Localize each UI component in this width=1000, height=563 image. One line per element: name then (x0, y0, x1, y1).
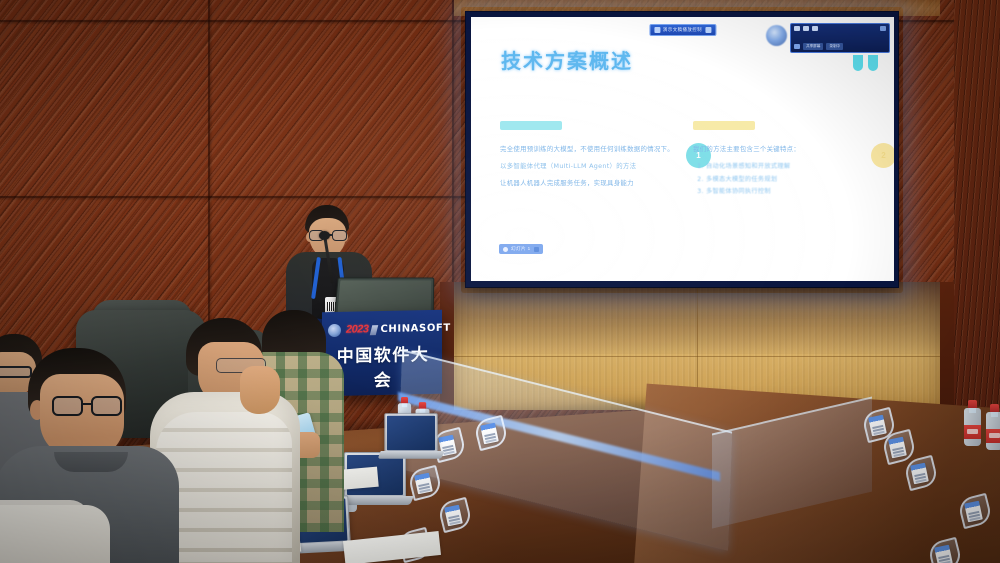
slide-badge-2: 2 (871, 143, 894, 168)
name-card-holder (960, 496, 990, 526)
close-icon[interactable] (812, 26, 818, 31)
tan-panel-frame (940, 282, 954, 410)
foreground-shoulder (0, 505, 110, 563)
meeting-chips-row[interactable]: 共享屏幕 录制中 (794, 43, 886, 50)
meeting-control-panel[interactable]: 共享屏幕 录制中 (790, 23, 890, 53)
attendee-glasses (0, 366, 32, 378)
podium-divider-icon (370, 325, 378, 335)
podium-year: 2023 (346, 323, 368, 335)
attendee-hand (240, 366, 280, 414)
laptop-screen (338, 280, 432, 312)
share-chip[interactable]: 共享屏幕 (803, 43, 823, 50)
chip-square-icon (534, 247, 539, 252)
record-chip[interactable]: 录制中 (826, 43, 843, 50)
podium-english-name: CHINASOFT (380, 323, 450, 335)
wall-seam (452, 0, 454, 300)
accent-bar (693, 121, 755, 130)
slide-paragraph: 让机器人机器人完成服务任务，实现具身能力 (500, 178, 678, 189)
water-bottle (986, 404, 1000, 450)
mic-icon[interactable] (794, 44, 800, 49)
slide-paragraph: 我们的方法主要包含三个关键特点： (693, 144, 883, 155)
presentation-toolbar[interactable]: 演示文稿播放控制 (649, 24, 716, 36)
water-bottle (964, 400, 981, 446)
sweater-collar (54, 452, 128, 472)
slide-column-2: 我们的方法主要包含三个关键特点： 自动化场景感知和开放式理解 多模态大模型的任务… (693, 121, 883, 198)
chip-dot-icon (503, 247, 508, 252)
wall-panel-right (954, 0, 1000, 410)
toolbar-label: 演示文稿播放控制 (663, 27, 702, 33)
slide-paragraph: 以多智能体代理（Multi-LLM Agent）的方法 (500, 161, 678, 172)
podium-top-line: 2023 CHINASOFT (346, 322, 451, 336)
slide-footer-chip[interactable]: 幻灯片 1 (499, 244, 543, 254)
accent-bar (500, 121, 562, 130)
name-card-holder (906, 458, 936, 488)
presentation-display: 技术方案概述 完全使用预训练的大模型，不使用任何训练数据的情况下。 以多智能体代… (466, 12, 898, 287)
name-card-holder (440, 500, 470, 530)
list-item: 多模态大模型的任务规划 (706, 174, 883, 186)
conference-logo-icon (328, 324, 341, 337)
attendee-glasses (52, 396, 122, 416)
attendee-laptop (384, 413, 437, 453)
list-item: 自动化场景感知和开放式理解 (706, 161, 883, 173)
slide-paragraph: 完全使用预训练的大模型，不使用任何训练数据的情况下。 (500, 144, 678, 155)
window-controls-row[interactable] (794, 26, 886, 31)
menu-icon[interactable] (880, 26, 886, 31)
signal-icon (654, 27, 660, 33)
name-card-holder (410, 468, 440, 498)
restore-icon[interactable] (803, 26, 809, 31)
microphone-head (319, 231, 330, 240)
chip-label: 幻灯片 1 (511, 246, 531, 252)
list-item: 多智能体协同执行控制 (706, 186, 883, 198)
slide-column-1: 完全使用预训练的大模型，不使用任何训练数据的情况下。 以多智能体代理（Multi… (500, 121, 678, 196)
slide-numbered-list: 自动化场景感知和开放式理解 多模态大模型的任务规划 多智能体协同执行控制 (706, 161, 883, 198)
slide-canvas: 技术方案概述 完全使用预训练的大模型，不使用任何训练数据的情况下。 以多智能体代… (471, 17, 894, 281)
name-card-holder (476, 418, 506, 448)
meeting-logo-icon (766, 25, 787, 46)
pointer-icon[interactable] (705, 27, 711, 33)
conference-room-photo: 技术方案概述 完全使用预训练的大模型，不使用任何训练数据的情况下。 以多智能体代… (0, 0, 1000, 563)
quote-mark-decoration (853, 55, 878, 71)
slide-title: 技术方案概述 (501, 45, 633, 74)
name-card-holder (930, 540, 960, 563)
minimize-icon[interactable] (794, 26, 800, 31)
